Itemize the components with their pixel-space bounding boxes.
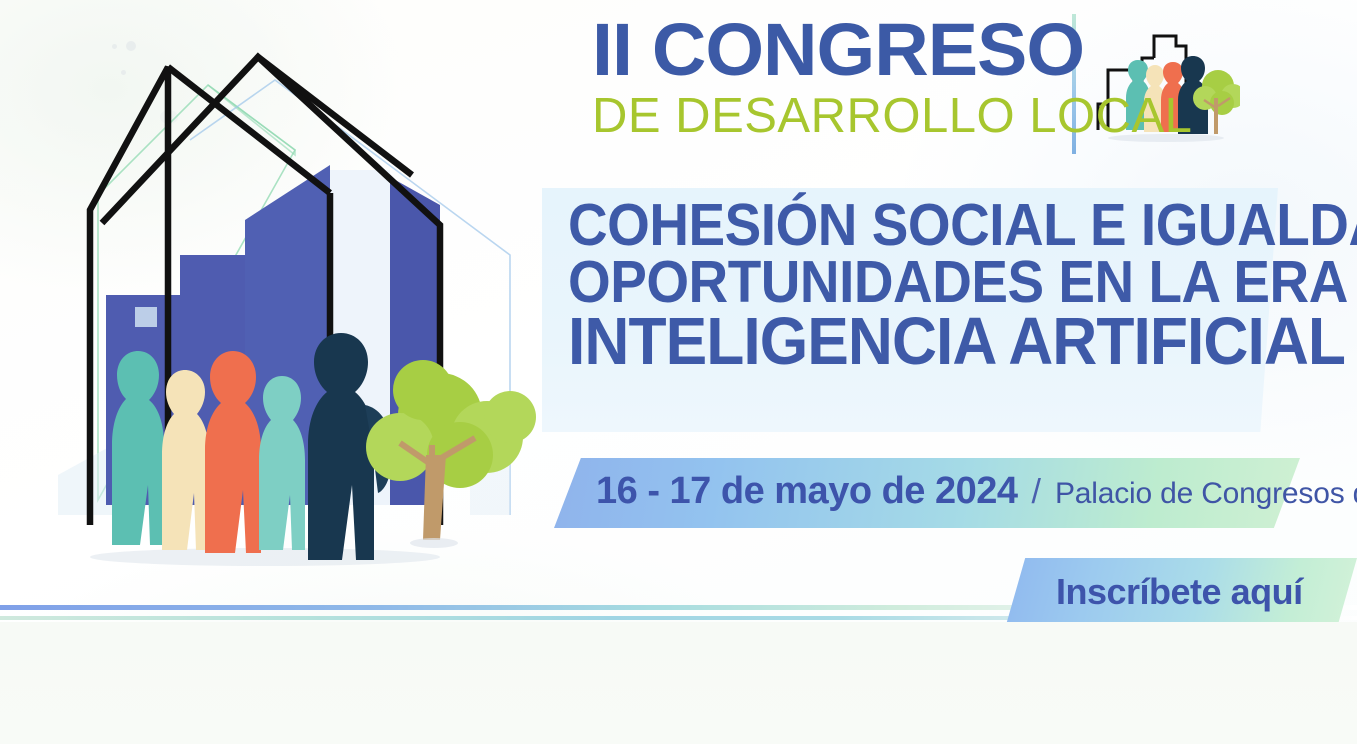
date-venue-separator: / — [1032, 473, 1041, 512]
headline-line-2: OPORTUNIDADES EN LA ERA DE LA — [568, 254, 1219, 311]
city-people-tree-illustration — [40, 45, 560, 620]
date-venue-text: 16 - 17 de mayo de 2024 / Palacio de Con… — [596, 470, 1357, 513]
event-venue: Palacio de Congresos de Gijón — [1055, 477, 1357, 511]
event-dates: 16 - 17 de mayo de 2024 — [596, 470, 1018, 513]
sponsors-footer: ORGANIZA: COLABORA: redel RED de ENTIDAD… — [0, 622, 1357, 744]
congress-subtitle: DE DESARROLLO LOCAL — [592, 91, 1062, 142]
poster-main-area: II CONGRESO DE DESARROLLO LOCAL COHESIÓN… — [0, 0, 1357, 614]
congress-title-block: II CONGRESO DE DESARROLLO LOCAL — [592, 14, 1062, 142]
headline-line-1: COHESIÓN SOCIAL E IGUALDAD DE — [568, 197, 1219, 254]
headline-text: COHESIÓN SOCIAL E IGUALDAD DE OPORTUNIDA… — [568, 197, 1219, 375]
congress-poster: II CONGRESO DE DESARROLLO LOCAL COHESIÓN… — [0, 0, 1357, 744]
congress-title: II CONGRESO — [592, 14, 1071, 87]
headline-line-3: INTELIGENCIA ARTIFICIAL — [568, 310, 1219, 374]
register-cta-label[interactable]: Inscríbete aquí — [1056, 571, 1303, 613]
